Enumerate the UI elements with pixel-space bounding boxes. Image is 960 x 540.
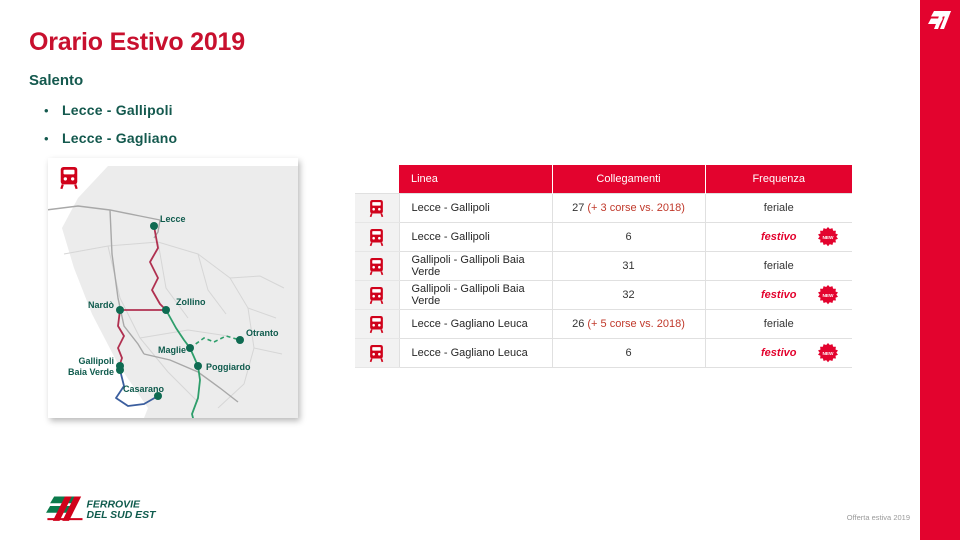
page-title: Orario Estivo 2019 bbox=[29, 28, 245, 57]
cell-collegamenti: 27 (+ 3 corse vs. 2018) bbox=[552, 194, 705, 223]
cell-linea: Gallipoli - Gallipoli Baia Verde bbox=[399, 281, 552, 310]
route-map: Lecce Zollino Otranto Maglie Nardò Galli… bbox=[48, 158, 298, 418]
new-badge-label: NEW bbox=[822, 235, 834, 241]
station-label-zollino: Zollino bbox=[176, 297, 206, 307]
cell-collegamenti: 6 bbox=[552, 223, 705, 252]
coll-note: (+ 5 corse vs. 2018) bbox=[584, 318, 685, 330]
row-train-icon-cell bbox=[355, 194, 399, 223]
cell-linea: Lecce - Gagliano Leuca bbox=[399, 339, 552, 368]
list-item: • Lecce - Gallipoli bbox=[44, 96, 344, 124]
train-icon bbox=[58, 166, 80, 190]
frequency-label: feriale bbox=[764, 260, 794, 272]
page-subtitle: Salento bbox=[29, 72, 83, 89]
column-header-frequenza: Frequenza bbox=[705, 165, 852, 194]
frequency-label: festivo bbox=[761, 289, 796, 301]
fs-logo-icon bbox=[926, 8, 954, 32]
station-label-nardo: Nardò bbox=[88, 300, 115, 310]
coll-value: 6 bbox=[625, 231, 631, 243]
coll-value: 26 bbox=[572, 318, 584, 330]
train-icon bbox=[368, 344, 385, 363]
new-badge-label: NEW bbox=[822, 293, 834, 299]
cell-linea: Gallipoli - Gallipoli Baia Verde bbox=[399, 252, 552, 281]
right-red-band bbox=[920, 0, 960, 540]
station-label-baia-verde: Baia Verde bbox=[68, 367, 114, 377]
route-map-card: Lecce Zollino Otranto Maglie Nardò Galli… bbox=[48, 158, 298, 418]
row-train-icon-cell bbox=[355, 252, 399, 281]
row-train-icon-cell bbox=[355, 310, 399, 339]
station-label-maglie: Maglie bbox=[158, 345, 186, 355]
ferrovie-del-sud-est-logo: FERROVIE DEL SUD EST bbox=[42, 491, 177, 525]
cell-collegamenti: 31 bbox=[552, 252, 705, 281]
station-label-casarano: Casarano bbox=[123, 384, 165, 394]
station-label-poggiardo: Poggiardo bbox=[206, 362, 251, 372]
frequency-label: feriale bbox=[764, 202, 794, 214]
train-icon bbox=[368, 286, 385, 305]
station-label-otranto: Otranto bbox=[246, 328, 279, 338]
cell-frequenza: feriale bbox=[705, 194, 852, 223]
coll-value: 6 bbox=[625, 347, 631, 359]
new-badge-icon: NEW bbox=[818, 227, 838, 247]
fse-monogram-icon bbox=[46, 497, 82, 521]
bullet-list: • Lecce - Gallipoli • Lecce - Gagliano bbox=[44, 96, 344, 152]
logo-line-1: FERROVIE bbox=[87, 499, 141, 510]
coll-value: 27 bbox=[572, 202, 584, 214]
cell-collegamenti: 6 bbox=[552, 339, 705, 368]
footer-note: Offerta estiva 2019 bbox=[847, 513, 910, 522]
station-label-lecce: Lecce bbox=[160, 214, 186, 224]
cell-frequenza: festivo NEW bbox=[705, 281, 852, 310]
row-train-icon-cell bbox=[355, 281, 399, 310]
coll-value: 31 bbox=[622, 260, 634, 272]
cell-collegamenti: 32 bbox=[552, 281, 705, 310]
cell-linea: Lecce - Gallipoli bbox=[399, 194, 552, 223]
cell-frequenza: festivo NEW bbox=[705, 339, 852, 368]
bullet-marker-icon: • bbox=[44, 104, 62, 117]
schedule-table: Linea Collegamenti Frequenza Lecce - Gal bbox=[355, 165, 852, 368]
station-label-gallipoli: Gallipoli bbox=[78, 356, 114, 366]
new-badge-label: NEW bbox=[822, 351, 834, 357]
logo-line-2: DEL SUD EST bbox=[87, 510, 158, 521]
new-badge-icon: NEW bbox=[818, 343, 838, 363]
row-train-icon-cell bbox=[355, 223, 399, 252]
coll-note: (+ 3 corse vs. 2018) bbox=[584, 202, 685, 214]
table-row[interactable]: Lecce - Gallipoli 27 (+ 3 corse vs. 2018… bbox=[355, 194, 852, 223]
frequency-label: feriale bbox=[764, 318, 794, 330]
table-row[interactable]: Gallipoli - Gallipoli Baia Verde 32 fest… bbox=[355, 281, 852, 310]
train-icon bbox=[368, 199, 385, 218]
row-train-icon-cell bbox=[355, 339, 399, 368]
train-icon bbox=[368, 228, 385, 247]
new-badge-icon: NEW bbox=[818, 285, 838, 305]
table-row[interactable]: Gallipoli - Gallipoli Baia Verde 31 feri… bbox=[355, 252, 852, 281]
bullet-label: Lecce - Gagliano bbox=[62, 130, 177, 146]
frequency-label: festivo bbox=[761, 347, 796, 359]
column-header-collegamenti: Collegamenti bbox=[552, 165, 705, 194]
train-icon bbox=[368, 315, 385, 334]
schedule-table-container: Linea Collegamenti Frequenza Lecce - Gal bbox=[355, 165, 852, 368]
table-row[interactable]: Lecce - Gagliano Leuca 26 (+ 5 corse vs.… bbox=[355, 310, 852, 339]
table-row[interactable]: Lecce - Gallipoli 6 festivo NEW bbox=[355, 223, 852, 252]
cell-collegamenti: 26 (+ 5 corse vs. 2018) bbox=[552, 310, 705, 339]
cell-frequenza: feriale bbox=[705, 252, 852, 281]
coll-value: 32 bbox=[622, 289, 634, 301]
column-header-icon bbox=[355, 165, 399, 194]
frequency-label: festivo bbox=[761, 231, 796, 243]
column-header-linea: Linea bbox=[399, 165, 552, 194]
bullet-label: Lecce - Gallipoli bbox=[62, 102, 173, 118]
cell-frequenza: festivo NEW bbox=[705, 223, 852, 252]
bullet-marker-icon: • bbox=[44, 132, 62, 145]
train-icon bbox=[368, 257, 385, 276]
cell-frequenza: feriale bbox=[705, 310, 852, 339]
table-row[interactable]: Lecce - Gagliano Leuca 6 festivo NEW bbox=[355, 339, 852, 368]
cell-linea: Lecce - Gagliano Leuca bbox=[399, 310, 552, 339]
list-item: • Lecce - Gagliano bbox=[44, 124, 344, 152]
table-header-row: Linea Collegamenti Frequenza bbox=[355, 165, 852, 194]
schedule-table-body: Lecce - Gallipoli 27 (+ 3 corse vs. 2018… bbox=[355, 194, 852, 368]
cell-linea: Lecce - Gallipoli bbox=[399, 223, 552, 252]
